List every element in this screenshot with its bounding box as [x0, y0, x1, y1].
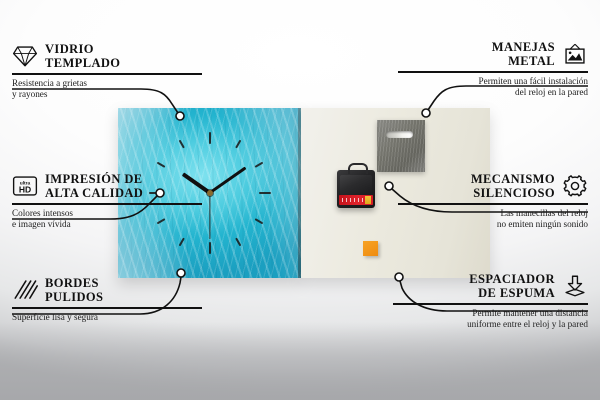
feature-title: MANEJAS METAL — [492, 40, 555, 68]
feature-divider — [393, 303, 588, 305]
arrow-down-layers-icon — [562, 274, 588, 298]
gear-icon — [562, 174, 588, 198]
metal-hanger-plate — [377, 120, 425, 172]
feature-description: Permiten una fácil instalación del reloj… — [398, 76, 588, 99]
feature-head: ultra HD IMPRESIÓN DE ALTA CALIDAD — [12, 172, 202, 200]
battery-stripes — [342, 198, 363, 202]
clock-center-cap — [207, 190, 213, 196]
feature-head: MECANISMO SILENCIOSO — [398, 172, 588, 200]
feature-title: ESPACIADOR DE ESPUMA — [469, 272, 555, 300]
clock-tick — [156, 162, 165, 168]
clock-tick — [259, 192, 271, 194]
feature-title: MECANISMO SILENCIOSO — [471, 172, 555, 200]
infographic-canvas: VIDRIO TEMPLADO Resistencia a grietas y … — [0, 0, 600, 400]
feature-hd-print: ultra HD IMPRESIÓN DE ALTA CALIDAD Color… — [12, 172, 202, 231]
svg-text:HD: HD — [19, 185, 31, 195]
feature-divider — [12, 307, 202, 309]
feature-polished-edges: BORDES PULIDOS Superficie lisa y segura — [12, 276, 202, 323]
feature-divider — [12, 73, 202, 75]
feature-description: Colores intensos e imagen vívida — [12, 208, 202, 231]
feature-description: Permite mantener una distancia uniforme … — [393, 308, 588, 331]
clock-minute-hand — [209, 167, 247, 195]
feature-head: BORDES PULIDOS — [12, 276, 202, 304]
diamond-icon — [12, 44, 38, 68]
feature-divider — [12, 203, 202, 205]
feature-description: Las manecillas del reloj no emiten ningú… — [398, 208, 588, 231]
clock-mechanism — [337, 170, 375, 208]
foam-spacer — [363, 241, 378, 256]
clock-second-hand — [209, 193, 210, 239]
clock-tick — [209, 242, 211, 254]
clock-tick — [235, 238, 241, 247]
battery-label — [339, 195, 373, 205]
clock-tick — [178, 238, 184, 247]
wall-picture-hanger-icon — [562, 42, 588, 66]
ultra-hd-badge-icon: ultra HD — [12, 174, 38, 198]
feature-description: Superficie lisa y segura — [12, 312, 202, 324]
feature-description: Resistencia a grietas y rayones — [12, 78, 202, 101]
feature-divider — [398, 71, 588, 73]
clock-tick — [235, 140, 241, 149]
feature-metal-handles: MANEJAS METAL Permiten una fácil instala… — [398, 40, 588, 99]
hanger-keyhole-slot — [386, 131, 413, 138]
feature-divider — [398, 203, 588, 205]
feature-head: MANEJAS METAL — [398, 40, 588, 68]
mechanism-body — [340, 175, 372, 195]
clock-tick — [254, 162, 263, 168]
feature-head: VIDRIO TEMPLADO — [12, 42, 202, 70]
feature-title: VIDRIO TEMPLADO — [45, 42, 120, 70]
clock-tick — [178, 140, 184, 149]
feature-head: ESPACIADOR DE ESPUMA — [393, 272, 588, 300]
feature-title: BORDES PULIDOS — [45, 276, 103, 304]
feature-tempered-glass: VIDRIO TEMPLADO Resistencia a grietas y … — [12, 42, 202, 101]
feature-silent-mechanism: MECANISMO SILENCIOSO Las manecillas del … — [398, 172, 588, 231]
clock-tick — [209, 132, 211, 144]
feature-title: IMPRESIÓN DE ALTA CALIDAD — [45, 172, 143, 200]
clock-tick — [254, 218, 263, 224]
mechanism-handle — [348, 163, 368, 174]
feature-foam-spacer: ESPACIADOR DE ESPUMA Permite mantener un… — [393, 272, 588, 331]
diagonal-lines-icon — [12, 278, 38, 302]
